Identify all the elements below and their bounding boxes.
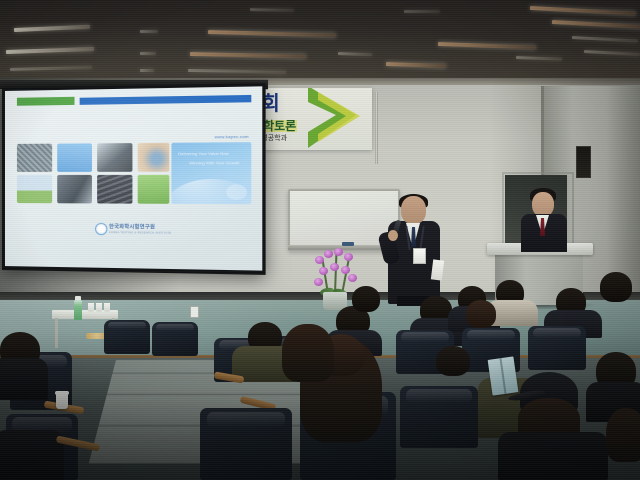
chevron-right-icon xyxy=(302,88,372,150)
slide-tile-turbine xyxy=(17,175,52,203)
seat-highlight xyxy=(533,328,582,338)
slide-tile-crowd xyxy=(17,143,52,171)
name-badge xyxy=(413,248,426,264)
orchid-bloom xyxy=(330,263,339,271)
audience-member xyxy=(600,272,632,302)
auditorium-photo: 수회 강전학토론 학교 환경공학과 www.kapec.com De xyxy=(0,0,640,480)
presenter-hand xyxy=(388,230,398,241)
audience-member xyxy=(466,300,496,328)
audience-member xyxy=(436,346,470,376)
slide-logo-subtext: KOREA TESTING & RESEARCH INSTITUTE xyxy=(109,231,171,235)
slide-panel-logo: KAPEC xyxy=(226,184,247,200)
audience-member xyxy=(352,286,380,312)
slide-tagline-panel: Delivering Your Value Now Winning With Y… xyxy=(172,142,252,205)
audience-head xyxy=(600,272,632,302)
water-bottle xyxy=(74,300,82,320)
slide-footer-logo: 한국화학시험연구원 KOREA TESTING & RESEARCH INSTI… xyxy=(95,223,172,236)
company-logo-icon xyxy=(95,223,107,235)
orchid-bloom xyxy=(315,256,324,264)
orchid-bloom xyxy=(324,250,333,258)
seat-highlight xyxy=(467,330,516,340)
seat-highlight xyxy=(156,324,195,331)
slide-blue-bar xyxy=(79,94,251,104)
coffee-cup xyxy=(56,393,68,409)
auditorium-seat xyxy=(152,322,198,356)
audience-head xyxy=(352,286,380,312)
program-booklet xyxy=(488,356,519,395)
audience-long-hair xyxy=(282,324,334,382)
auditorium-seat xyxy=(400,386,478,448)
orchid-bloom xyxy=(334,248,343,256)
seat-highlight xyxy=(207,412,284,428)
audience-long-hair xyxy=(606,408,640,462)
banner-pole xyxy=(375,92,378,164)
ceiling-light xyxy=(404,10,440,13)
presenter-head xyxy=(401,196,426,224)
seat-back xyxy=(528,326,586,370)
orchid-bloom xyxy=(348,274,357,282)
slide-tile-globe xyxy=(138,142,169,171)
paper-cup xyxy=(96,303,102,312)
orchid-bloom xyxy=(314,278,323,286)
orchid-bloom xyxy=(341,266,350,274)
seat-highlight xyxy=(401,332,450,342)
auditorium-seat xyxy=(200,408,292,480)
slide-tagline-line1: Delivering Your Value Now xyxy=(178,151,229,156)
paper-cup xyxy=(88,303,94,312)
audience-shoulders xyxy=(0,358,48,400)
audience-shoulders xyxy=(498,432,608,480)
ceiling-light xyxy=(140,30,158,33)
seat-highlight xyxy=(108,322,147,329)
slide-tile-green xyxy=(138,175,169,204)
slide-tile-circuit xyxy=(57,175,92,204)
audience-head xyxy=(436,346,470,376)
seat-highlight xyxy=(406,389,472,403)
standing-presenter xyxy=(383,196,445,304)
slide-url: www.kapec.com xyxy=(215,133,249,139)
slide-tile-keyboard xyxy=(97,175,133,204)
ceiling-light xyxy=(140,69,154,72)
orchid-bloom xyxy=(319,267,328,275)
slide-surface: www.kapec.com Delivering Your Value Now … xyxy=(5,86,262,270)
seat-back xyxy=(400,386,478,448)
auditorium-seat xyxy=(528,326,586,370)
presenter-notes xyxy=(431,259,444,280)
audience-head xyxy=(466,300,496,328)
slide-tile-drill xyxy=(97,143,133,172)
marker-pen-icon xyxy=(342,242,354,246)
slide-tile-sky xyxy=(57,143,92,172)
paper-cup xyxy=(104,303,110,312)
podium-speaker xyxy=(519,188,569,250)
auditorium-seat xyxy=(104,320,150,354)
slide-green-bar xyxy=(17,97,74,106)
audience-shoulders xyxy=(0,430,64,480)
seat-back xyxy=(152,322,198,356)
seat-back xyxy=(200,408,292,480)
table-leg xyxy=(55,318,58,348)
projection-screen: www.kapec.com Delivering Your Value Now … xyxy=(2,83,266,275)
orchid-bloom xyxy=(344,253,353,261)
ceiling-light xyxy=(140,52,156,55)
seat-back xyxy=(104,320,150,354)
slide-tagline-line2: Winning With Your Growth xyxy=(189,160,239,165)
wall-outlet-icon xyxy=(190,306,199,318)
aisle-step xyxy=(107,394,316,396)
booklet-spine xyxy=(500,358,506,394)
